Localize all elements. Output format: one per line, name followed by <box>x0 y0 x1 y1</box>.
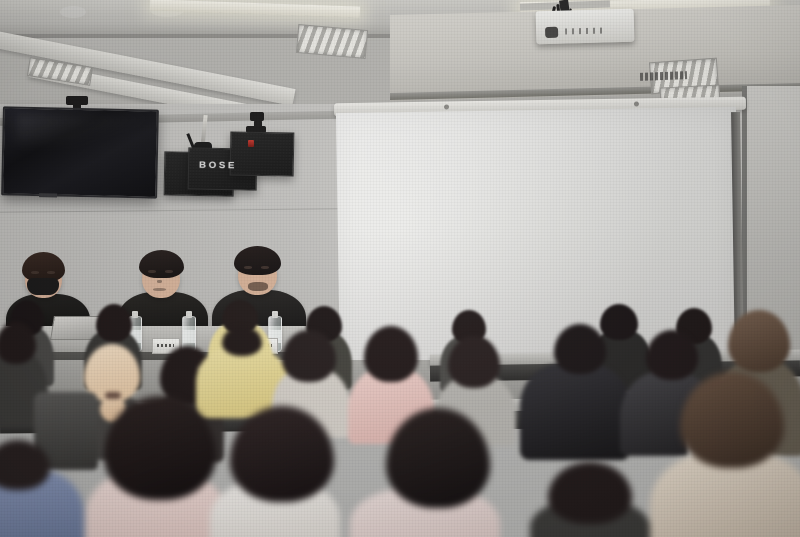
ceiling-projector <box>536 9 635 45</box>
speaker-power-led <box>248 140 254 147</box>
wall-mounted-tv <box>1 106 159 198</box>
panelist-hair <box>234 246 281 275</box>
panelist-hair <box>139 250 184 278</box>
projector-vent-slots <box>565 27 605 34</box>
air-vent-icon <box>296 24 368 59</box>
panelist-beard <box>248 282 268 291</box>
face-mask <box>27 278 59 295</box>
projector-lens-icon <box>545 27 558 38</box>
tv-logo-bar <box>40 193 58 197</box>
bose-brand-logo: BOSE <box>194 160 242 171</box>
tv-screen-glare <box>16 114 144 146</box>
lecture-hall-photo: BOSE <box>0 0 800 537</box>
ceiling-sign <box>640 71 687 81</box>
